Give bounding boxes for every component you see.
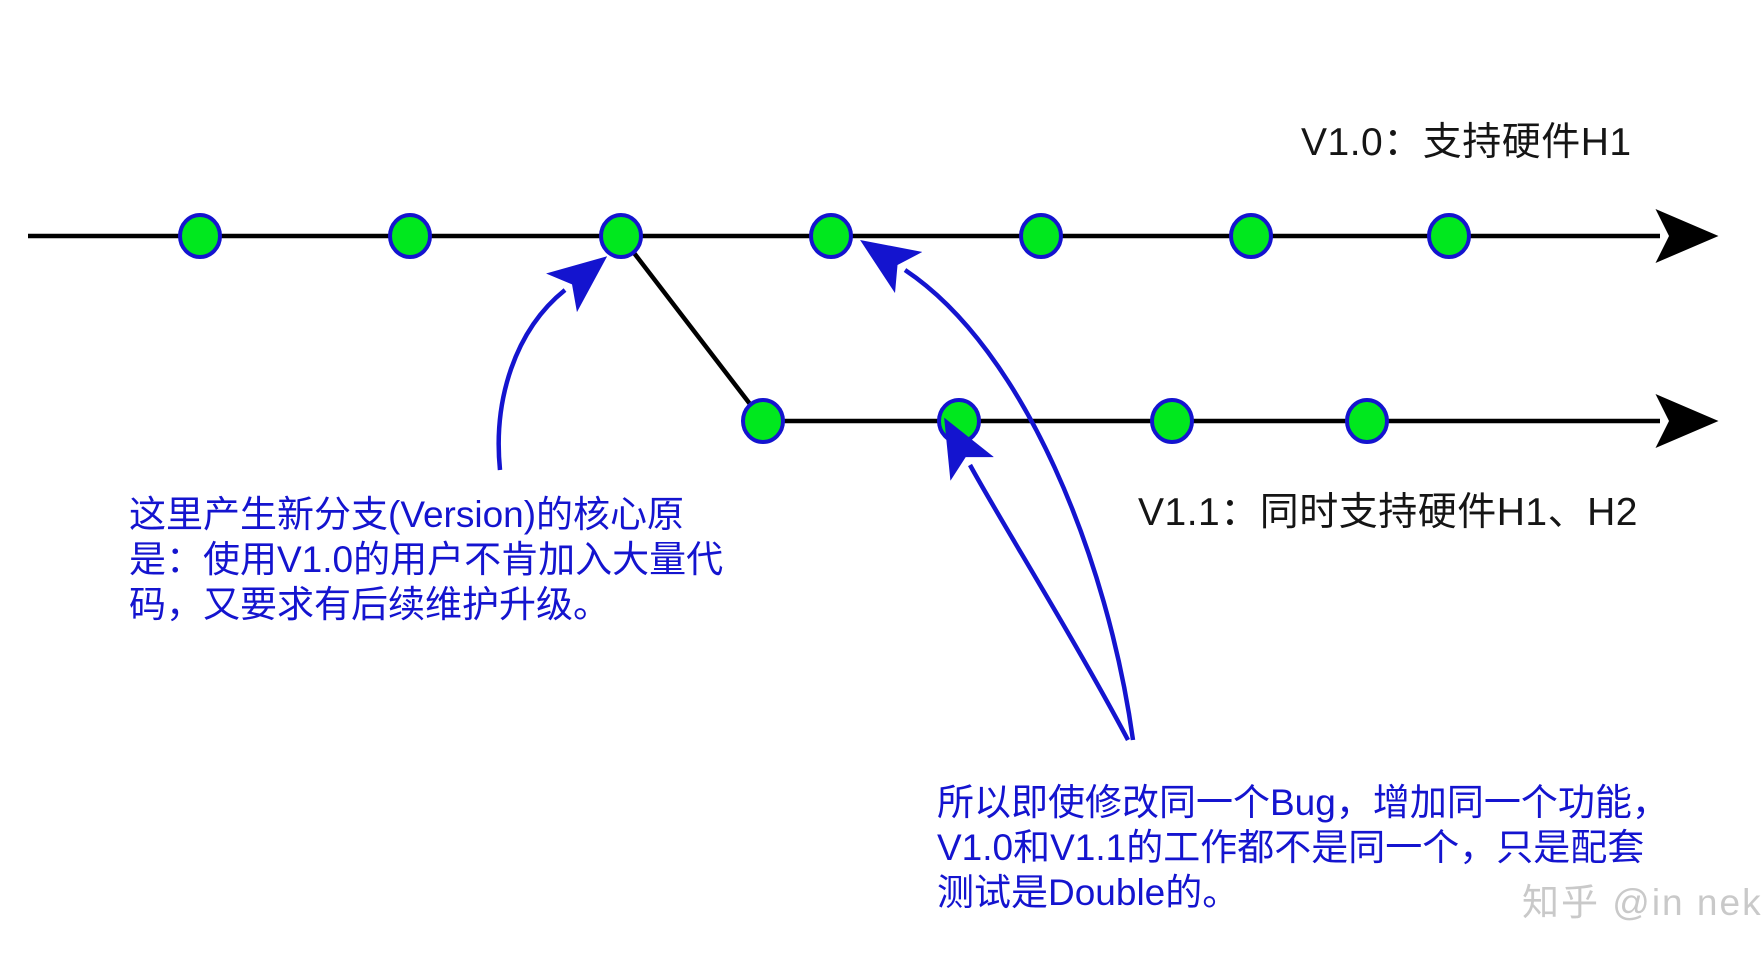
commit-node[interactable] — [743, 400, 783, 442]
note-branch-reason: 这里产生新分支(Version)的核心原 是：使用V1.0的用户不肯加入大量代 … — [129, 492, 723, 627]
commit-node[interactable] — [1231, 215, 1271, 257]
note-branch-reason-line3: 码，又要求有后续维护升级。 — [129, 582, 723, 627]
annotation-arrow-branch-reason — [499, 290, 565, 470]
commit-node[interactable] — [390, 215, 430, 257]
commit-node[interactable] — [1429, 215, 1469, 257]
commit-node[interactable] — [1021, 215, 1061, 257]
diagram-canvas: V1.0：支持硬件H1 V1.1：同时支持硬件H1、H2 这里产生新分支(Ver… — [0, 0, 1764, 972]
commit-node[interactable] — [939, 400, 979, 442]
commit-node[interactable] — [1152, 400, 1192, 442]
branch-connector-line — [621, 236, 763, 421]
commit-node[interactable] — [180, 215, 220, 257]
v11-branch-label: V1.1：同时支持硬件H1、H2 — [1138, 493, 1638, 532]
note-double-work-line2: V1.0和V1.1的工作都不是同一个，只是配套 — [937, 825, 1669, 870]
commit-node[interactable] — [811, 215, 851, 257]
note-branch-reason-line1: 这里产生新分支(Version)的核心原 — [129, 492, 723, 537]
note-branch-reason-line2: 是：使用V1.0的用户不肯加入大量代 — [129, 537, 723, 582]
note-double-work-line1: 所以即使修改同一个Bug，增加同一个功能， — [937, 780, 1669, 825]
annotation-arrow-double-work-top — [905, 270, 1133, 740]
commit-node[interactable] — [1347, 400, 1387, 442]
commit-node-branch-point[interactable] — [601, 215, 641, 257]
watermark-zhihu: 知乎 @in nek — [1522, 884, 1763, 921]
v10-branch-label: V1.0：支持硬件H1 — [1301, 123, 1632, 162]
